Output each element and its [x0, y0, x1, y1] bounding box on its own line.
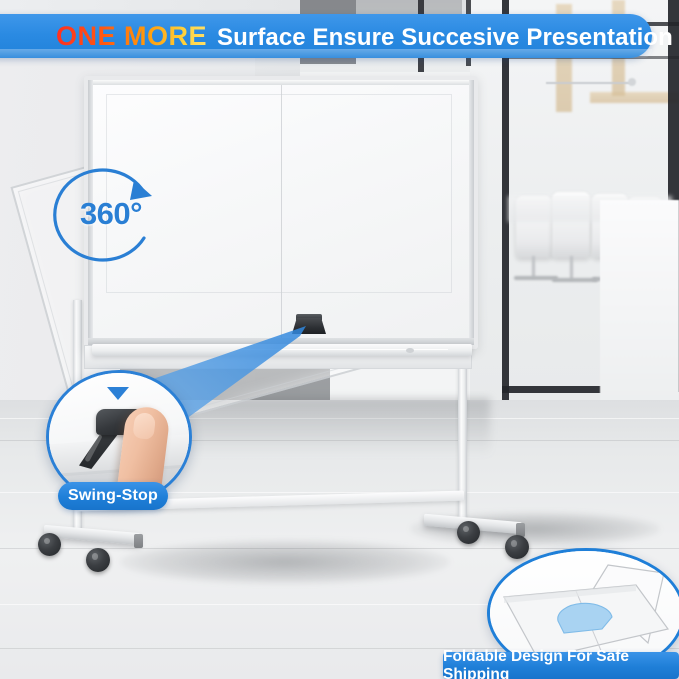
frame-edge-top [88, 80, 474, 85]
rotation-callout: 360° [48, 162, 174, 268]
chair-stem [532, 256, 535, 278]
down-triangle-icon [107, 387, 129, 400]
partition-wall-right [600, 200, 679, 420]
swing-stop-label: Swing-Stop [58, 482, 168, 510]
frame-edge-right [469, 80, 474, 345]
marker-tray [92, 344, 472, 356]
wood-beam-horizontal [590, 92, 679, 103]
chair-stem [570, 256, 573, 280]
headline-emphasis: ONE MORE [56, 21, 207, 52]
foot-cap-left [134, 534, 143, 548]
swing-stop-pedal[interactable] [292, 318, 326, 334]
foldable-design-label: Foldable Design For Safe Shipping [443, 652, 679, 679]
caster-wheel[interactable] [38, 533, 61, 556]
product-floor-shadow [120, 540, 450, 584]
product-marketing-image: 360° Swing-Stop Foldable Design For Safe… [0, 0, 679, 679]
headline-text-group: ONE MORE Surface Ensure Succesive Presen… [0, 21, 673, 52]
fingernail [132, 412, 156, 440]
rod-endcap [628, 78, 636, 86]
caster-wheel[interactable] [86, 548, 110, 572]
tray-endcap [406, 348, 414, 353]
hanging-rod [546, 82, 632, 84]
headline-banner: ONE MORE Surface Ensure Succesive Presen… [0, 14, 652, 58]
banner-gloss [0, 49, 652, 58]
caster-wheel[interactable] [457, 521, 480, 544]
headline-rest: Surface Ensure Succesive Presentation [217, 24, 673, 52]
marker-tray-groove [242, 349, 448, 350]
rotation-label: 360° [56, 196, 166, 232]
